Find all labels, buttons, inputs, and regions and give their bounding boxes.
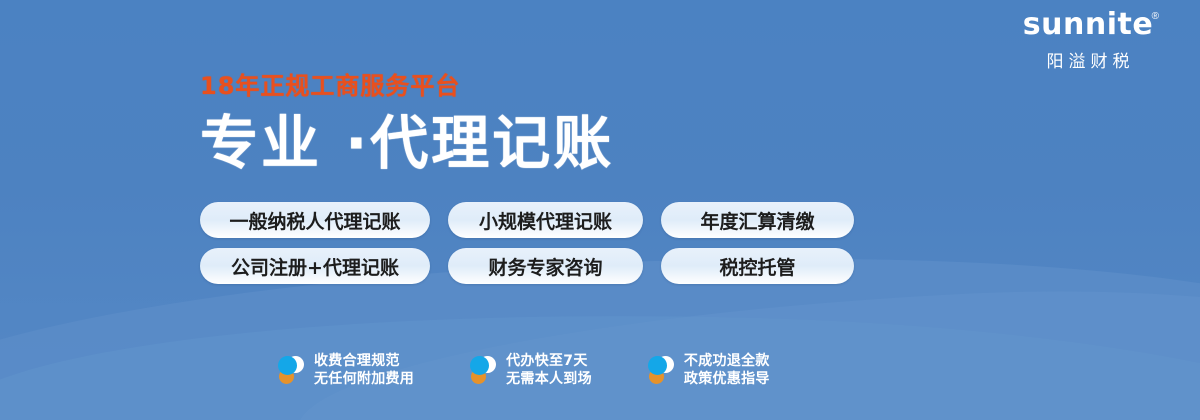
moon-circle-icon xyxy=(470,354,496,386)
service-tag-group: 一般纳税人代理记账 小规模代理记账 年度汇算清缴 公司注册+代理记账 财务专家咨… xyxy=(200,202,854,284)
service-tag[interactable]: 财务专家咨询 xyxy=(448,248,643,284)
service-tag[interactable]: 一般纳税人代理记账 xyxy=(200,202,430,238)
feature-text: 代办快至7天 无需本人到场 xyxy=(506,352,592,388)
feature-strip: 收费合理规范 无任何附加费用 代办快至7天 无需本人到场 不成功退全款 xyxy=(278,352,770,388)
feature-item: 不成功退全款 政策优惠指导 xyxy=(648,352,770,388)
feature-line-2: 无需本人到场 xyxy=(506,370,592,388)
service-tag-row: 一般纳税人代理记账 小规模代理记账 年度汇算清缴 xyxy=(200,202,854,238)
eyebrow-text: 18年正规工商服务平台 xyxy=(200,74,614,98)
feature-line-1: 收费合理规范 xyxy=(314,352,414,370)
feature-line-1: 代办快至7天 xyxy=(506,352,592,370)
moon-circle-icon xyxy=(278,354,304,386)
feature-text: 不成功退全款 政策优惠指导 xyxy=(684,352,770,388)
feature-item: 代办快至7天 无需本人到场 xyxy=(470,352,592,388)
background-wave-lower xyxy=(293,271,1200,420)
feature-line-2: 政策优惠指导 xyxy=(684,370,770,388)
feature-item: 收费合理规范 无任何附加费用 xyxy=(278,352,414,388)
page-title: 专业 ·代理记账 xyxy=(200,114,614,172)
logo-chinese-name: 阳溢财税 xyxy=(998,47,1178,72)
service-tag[interactable]: 小规模代理记账 xyxy=(448,202,643,238)
feature-text: 收费合理规范 无任何附加费用 xyxy=(314,352,414,388)
feature-line-1: 不成功退全款 xyxy=(684,352,770,370)
moon-disc-shape xyxy=(648,356,667,375)
logo-wordmark: sunnite xyxy=(1023,8,1153,41)
service-tag-row: 公司注册+代理记账 财务专家咨询 税控托管 xyxy=(200,248,854,284)
registered-trademark-icon: ® xyxy=(1152,11,1159,22)
service-tag[interactable]: 税控托管 xyxy=(661,248,854,284)
moon-disc-shape xyxy=(278,356,297,375)
service-tag[interactable]: 公司注册+代理记账 xyxy=(200,248,430,284)
promo-banner: sunnite ® 阳溢财税 18年正规工商服务平台 专业 ·代理记账 一般纳税… xyxy=(0,0,1200,420)
moon-disc-shape xyxy=(470,356,489,375)
headline-block: 18年正规工商服务平台 专业 ·代理记账 xyxy=(200,74,614,172)
feature-line-2: 无任何附加费用 xyxy=(314,370,414,388)
brand-logo[interactable]: sunnite ® 阳溢财税 xyxy=(998,8,1178,72)
service-tag[interactable]: 年度汇算清缴 xyxy=(661,202,854,238)
moon-circle-icon xyxy=(648,354,674,386)
